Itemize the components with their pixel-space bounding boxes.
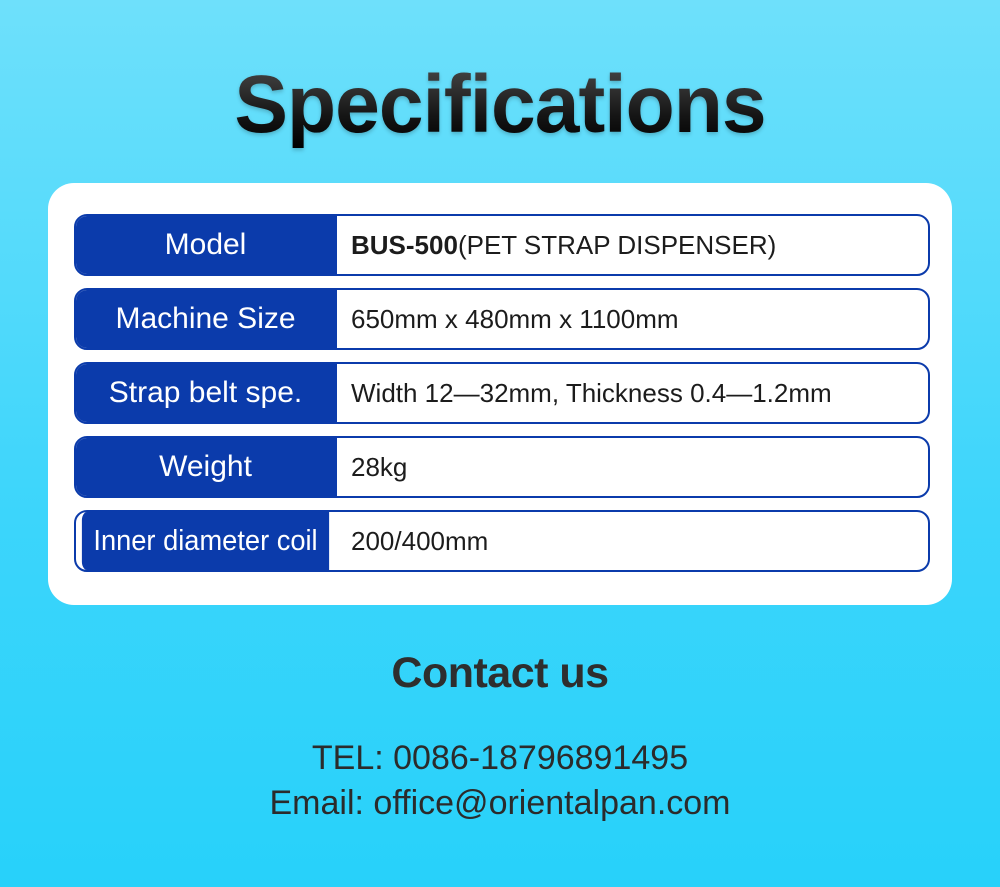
spec-label-strap-belt-spe: Strap belt spe. (74, 362, 337, 424)
specifications-card: Model BUS-500 (PET STRAP DISPENSER) Mach… (48, 183, 952, 605)
page-title: Specifications (10, 62, 990, 148)
contact-telephone: TEL: 0086-18796891495 (0, 736, 1000, 781)
spec-label-weight: Weight (74, 436, 337, 498)
contact-details: TEL: 0086-18796891495 Email: office@orie… (0, 736, 1000, 826)
spec-value-weight: 28kg (337, 438, 928, 496)
spec-label-inner-diameter-coil: Inner diameter coil (82, 510, 329, 572)
contact-heading: Contact us (0, 650, 1000, 697)
table-row: Machine Size 650mm x 480mm x 1100mm (74, 288, 930, 350)
spec-label-model: Model (74, 214, 337, 276)
spec-value-model-description: (PET STRAP DISPENSER) (458, 232, 776, 258)
spec-label-machine-size: Machine Size (74, 288, 337, 350)
table-row: Strap belt spe. Width 12—32mm, Thickness… (74, 362, 930, 424)
spec-value-inner-diameter-coil: 200/400mm (337, 512, 928, 570)
spec-value-model-code: BUS-500 (351, 232, 458, 258)
specifications-table: Model BUS-500 (PET STRAP DISPENSER) Mach… (74, 214, 930, 572)
table-row: Model BUS-500 (PET STRAP DISPENSER) (74, 214, 930, 276)
spec-value-model: BUS-500 (PET STRAP DISPENSER) (337, 216, 928, 274)
table-row: Inner diameter coil 200/400mm (74, 510, 930, 572)
contact-email: Email: office@orientalpan.com (0, 781, 1000, 826)
table-row: Weight 28kg (74, 436, 930, 498)
spec-value-strap-belt-spe: Width 12—32mm, Thickness 0.4—1.2mm (337, 364, 928, 422)
spec-value-machine-size: 650mm x 480mm x 1100mm (337, 290, 928, 348)
